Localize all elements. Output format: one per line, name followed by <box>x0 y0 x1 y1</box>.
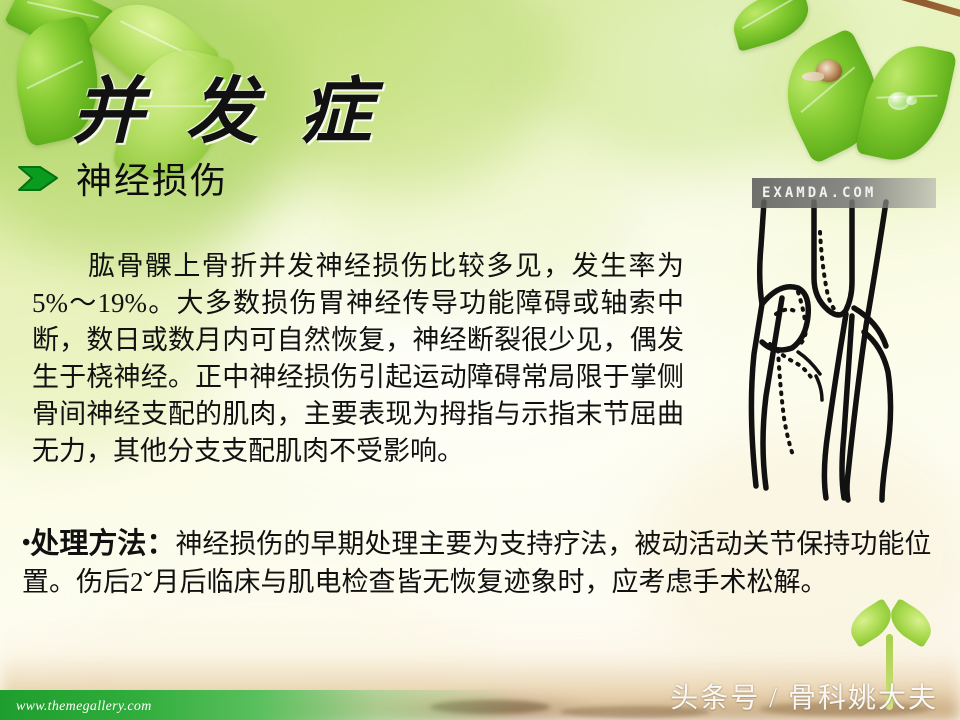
method-label: 处理方法： <box>30 528 175 560</box>
elbow-joint-anatomy-diagram <box>736 186 936 508</box>
footer-credit: 头条号 / 骨科姚大夫 <box>670 676 938 716</box>
presentation-slide: 并 发 症 神经损伤 肱骨髁上骨折并发神经损伤比较多见，发生率为5%～19%。大… <box>0 0 960 720</box>
subheading-row: 神经损伤 <box>16 152 228 204</box>
green-arrow-icon <box>16 161 60 195</box>
watermark-text: EXAMDA.COM <box>762 185 876 201</box>
method-block: •处理方法：神经损伤的早期处理主要为支持疗法，被动活动关节保持功能位置。伤后2ˇ… <box>22 524 932 601</box>
figure-watermark: EXAMDA.COM <box>752 178 936 208</box>
footer-url[interactable]: www.themegallery.com <box>16 699 152 715</box>
subheading-text: 神经损伤 <box>76 152 228 204</box>
body-paragraph: 肱骨髁上骨折并发神经损伤比较多见，发生率为5%～19%。大多数损伤胃神经传导功能… <box>32 248 684 470</box>
slide-title: 并 发 症 <box>72 52 384 157</box>
